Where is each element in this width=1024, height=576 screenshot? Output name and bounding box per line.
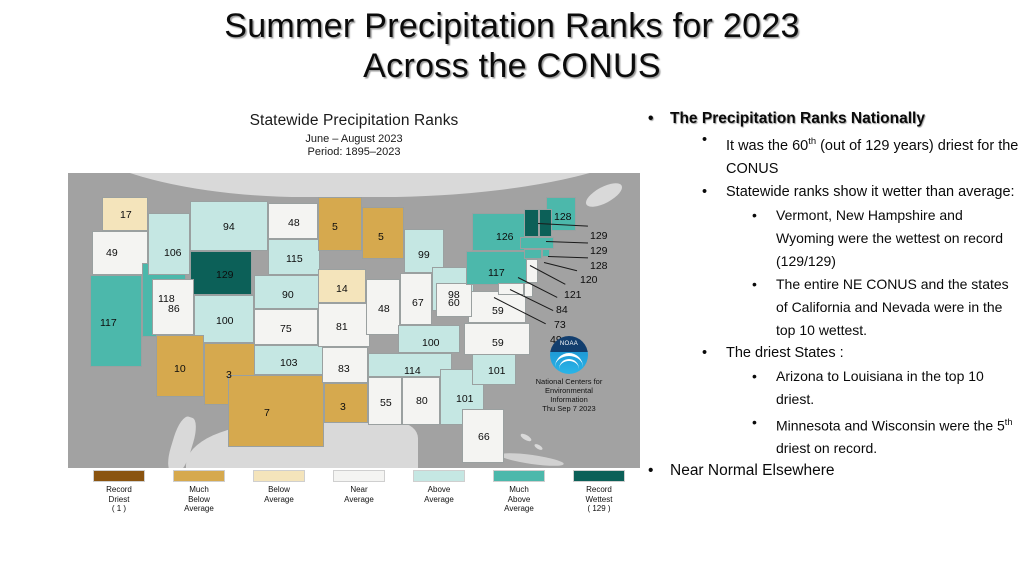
page-title: Summer Precipitation Ranks for 2023 Acro… — [0, 6, 1024, 86]
title-line-1: Summer Precipitation Ranks for 2023 — [224, 7, 800, 45]
noaa-line-4: Thu Sep 7 2023 — [517, 404, 621, 413]
legend-item: BelowAverage — [242, 470, 316, 504]
bullet-marker-icon: • — [702, 342, 726, 365]
state-rank-label: 59 — [492, 305, 504, 317]
title-line-2: Across the CONUS — [0, 46, 1024, 86]
slide-canvas: Summer Precipitation Ranks for 2023 Acro… — [0, 0, 1024, 576]
bullet-text: The Precipitation Ranks Nationally — [670, 108, 1020, 129]
bullet-marker-icon: • — [752, 273, 776, 342]
bullet-text: The entire NE CONUS and the states of Ca… — [776, 273, 1020, 342]
bullet-item-l2: •The driest States : — [702, 342, 1020, 365]
noaa-line-3: Information — [517, 395, 621, 404]
state-rank-label: 100 — [422, 337, 440, 349]
state-rank-label: 83 — [338, 363, 350, 375]
legend-item: AboveAverage — [402, 470, 476, 504]
state-rank-label: 5 — [332, 221, 338, 233]
state-rank-label: 101 — [488, 365, 506, 377]
bullet-item-l2: •Statewide ranks show it wetter than ave… — [702, 181, 1020, 204]
state-rank-label: 60 — [448, 297, 460, 309]
state-rank-label: 103 — [280, 357, 298, 369]
callout-rank-de: 73 — [554, 319, 566, 331]
figure-subtitle-record: Period: 1895–2023 — [68, 146, 640, 159]
bullet-marker-icon: • — [648, 108, 670, 129]
state-rank-label: 90 — [282, 289, 294, 301]
bullet-item-l1: •Near Normal Elsewhere — [648, 460, 1020, 481]
state-rank-label: 80 — [416, 395, 428, 407]
state-rank-label: 129 — [216, 269, 234, 281]
state-rank-label: 48 — [378, 303, 390, 315]
legend-swatch — [573, 470, 625, 482]
bullet-marker-icon: • — [752, 365, 776, 411]
callout-rank-ri: 120 — [580, 274, 598, 286]
bullet-text: It was the 60th (out of 129 years) dries… — [726, 129, 1020, 181]
figure-title: Statewide Precipitation Ranks — [68, 112, 640, 130]
state-rank-label: 106 — [164, 247, 182, 259]
callout-rank-nj: 84 — [556, 304, 568, 316]
state-rank-label: 17 — [120, 209, 132, 221]
state-rank-label: 117 — [488, 267, 505, 279]
state-rank-label: 101 — [456, 393, 474, 405]
bullet-marker-icon: • — [752, 411, 776, 461]
bullet-text: Minnesota and Wisconsin were the 5th dri… — [776, 411, 1020, 461]
state-rank-label: 115 — [286, 253, 303, 265]
state-rank-label: 49 — [106, 247, 118, 259]
legend-swatch — [93, 470, 145, 482]
bullet-marker-icon: • — [752, 204, 776, 273]
state-rank-label: 3 — [340, 401, 346, 413]
noaa-badge-text: NOAA — [550, 341, 588, 347]
legend-item: RecordWettest( 129 ) — [562, 470, 636, 514]
state-rank-label: 66 — [478, 431, 490, 443]
legend-swatch — [253, 470, 305, 482]
legend-swatch — [493, 470, 545, 482]
state-ct[interactable] — [524, 249, 542, 259]
bullet-item-l1: •The Precipitation Ranks Nationally — [648, 108, 1020, 129]
state-rank-label: 117 — [100, 317, 117, 329]
state-ma[interactable] — [520, 237, 554, 249]
bullet-item-l3: •Vermont, New Hampshire and Wyoming were… — [752, 204, 1020, 273]
map-legend: RecordDriest( 1 )MuchBelowAverageBelowAv… — [68, 470, 640, 530]
state-rank-label: 7 — [264, 407, 270, 419]
state-rank-label: 3 — [226, 369, 232, 381]
maritimes-landmass — [583, 179, 626, 212]
state-la[interactable] — [324, 383, 368, 423]
state-rank-label: 59 — [492, 337, 504, 349]
state-rank-label: 128 — [554, 211, 572, 223]
bullet-text: Statewide ranks show it wetter than aver… — [726, 181, 1020, 204]
legend-item: RecordDriest( 1 ) — [82, 470, 156, 514]
legend-swatch — [173, 470, 225, 482]
state-rank-label: 14 — [336, 283, 348, 295]
bullet-marker-icon: • — [702, 181, 726, 204]
state-id[interactable] — [148, 213, 190, 275]
state-rank-label: 99 — [418, 249, 430, 261]
legend-label: BelowAverage — [242, 485, 316, 504]
noaa-line-1: National Centers for — [517, 377, 621, 386]
legend-swatch — [413, 470, 465, 482]
callout-rank-vt: 129 — [590, 230, 608, 242]
legend-label: AboveAverage — [402, 485, 476, 504]
bullet-marker-icon: • — [648, 460, 670, 481]
map-figure: Statewide Precipitation Ranks June – Aug… — [68, 112, 640, 159]
callout-leader-line — [544, 262, 577, 271]
state-rank-label: 75 — [280, 323, 292, 335]
bahamas-landmass — [534, 443, 544, 451]
state-rank-label: 114 — [404, 365, 421, 377]
callout-rank-nh: 129 — [590, 245, 608, 257]
legend-label: RecordWettest( 129 ) — [562, 485, 636, 514]
state-rank-label: 100 — [216, 315, 234, 327]
callout-rank-ct: 121 — [564, 289, 582, 301]
state-rank-label: 55 — [380, 397, 392, 409]
cuba-landmass — [500, 451, 565, 468]
conus-choropleth-map[interactable]: 1749117118106941298610010348115907510375… — [68, 173, 640, 468]
bullet-item-l3: •Minnesota and Wisconsin were the 5th dr… — [752, 411, 1020, 461]
state-rank-label: 81 — [336, 321, 348, 333]
noaa-attribution-text: National Centers for Environmental Infor… — [517, 377, 621, 413]
state-rank-label: 10 — [174, 363, 186, 375]
legend-label: NearAverage — [322, 485, 396, 504]
noaa-logo-icon: NOAA — [550, 336, 588, 374]
bullet-item-l3: •The entire NE CONUS and the states of C… — [752, 273, 1020, 342]
state-tx[interactable] — [228, 375, 324, 447]
noaa-line-2: Environmental — [517, 386, 621, 395]
legend-item: NearAverage — [322, 470, 396, 504]
state-or[interactable] — [92, 231, 148, 275]
state-rank-label: 94 — [223, 221, 235, 233]
state-rank-label: 67 — [412, 297, 424, 309]
bullet-list: •The Precipitation Ranks Nationally•It w… — [648, 108, 1020, 481]
state-rank-label: 48 — [288, 217, 300, 229]
legend-swatch — [333, 470, 385, 482]
callout-rank-ma: 128 — [590, 260, 608, 272]
bullet-text: Arizona to Louisiana in the top 10 dries… — [776, 365, 1020, 411]
state-mn[interactable] — [318, 197, 362, 251]
legend-item: MuchAboveAverage — [482, 470, 556, 514]
bahamas-landmass — [520, 432, 533, 442]
bullet-text: Near Normal Elsewhere — [670, 460, 1020, 481]
bullet-text: Vermont, New Hampshire and Wyoming were … — [776, 204, 1020, 273]
state-nj[interactable] — [526, 259, 538, 283]
legend-label: MuchBelowAverage — [162, 485, 236, 514]
callout-leader-line — [548, 256, 588, 258]
bullet-text: The driest States : — [726, 342, 1020, 365]
legend-item: MuchBelowAverage — [162, 470, 236, 514]
state-rank-label: 86 — [168, 303, 180, 315]
figure-subtitle-period: June – August 2023 — [68, 133, 640, 146]
canada-landmass — [68, 173, 640, 197]
state-vt[interactable] — [524, 209, 539, 237]
noaa-attribution: NOAA National Centers for Environmental … — [517, 336, 621, 413]
legend-label: RecordDriest( 1 ) — [82, 485, 156, 514]
bullet-item-l3: •Arizona to Louisiana in the top 10 drie… — [752, 365, 1020, 411]
bullet-marker-icon: • — [702, 129, 726, 181]
state-rank-label: 126 — [496, 231, 514, 243]
bullet-item-l2: •It was the 60th (out of 129 years) drie… — [702, 129, 1020, 181]
legend-label: MuchAboveAverage — [482, 485, 556, 514]
state-rank-label: 5 — [378, 231, 384, 243]
